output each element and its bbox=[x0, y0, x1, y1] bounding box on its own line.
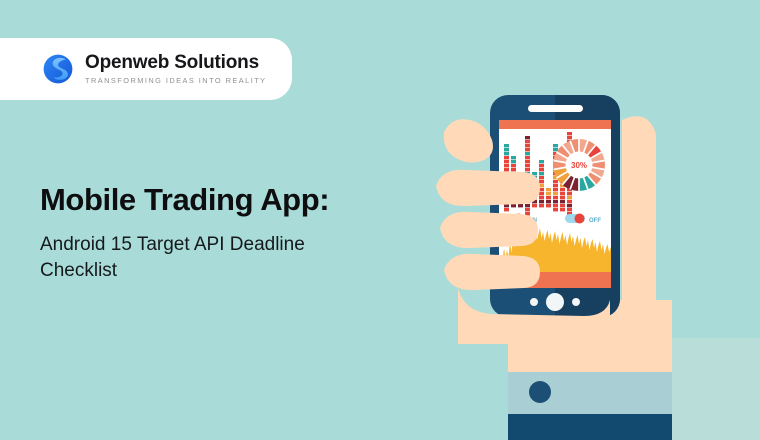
segmented-donut-chart: 30% bbox=[553, 139, 605, 191]
home-dot-left bbox=[530, 298, 538, 306]
cuff-button bbox=[529, 381, 551, 403]
openweb-swirl-logo-icon bbox=[42, 53, 74, 85]
hand-holding-phone-illustration: 30% ON OFF bbox=[400, 0, 760, 440]
home-dot-right bbox=[572, 298, 580, 306]
logo-tagline: TRANSFORMING IDEAS INTO REALITY bbox=[85, 76, 267, 85]
home-button bbox=[546, 293, 564, 311]
promo-banner: Openweb Solutions TRANSFORMING IDEAS INT… bbox=[0, 0, 760, 440]
speaker-bar-icon bbox=[528, 105, 583, 112]
donut-center-label: 30% bbox=[571, 161, 587, 170]
headline-block: Mobile Trading App: Android 15 Target AP… bbox=[40, 182, 440, 284]
page-title: Mobile Trading App: bbox=[40, 182, 440, 218]
logo-card: Openweb Solutions TRANSFORMING IDEAS INT… bbox=[0, 38, 292, 100]
screen-header-bar bbox=[499, 120, 611, 129]
page-subtitle: Android 15 Target API Deadline Checklist bbox=[40, 232, 385, 284]
logo-company-name: Openweb Solutions bbox=[85, 53, 267, 73]
toggle-off-label: OFF bbox=[589, 218, 601, 224]
